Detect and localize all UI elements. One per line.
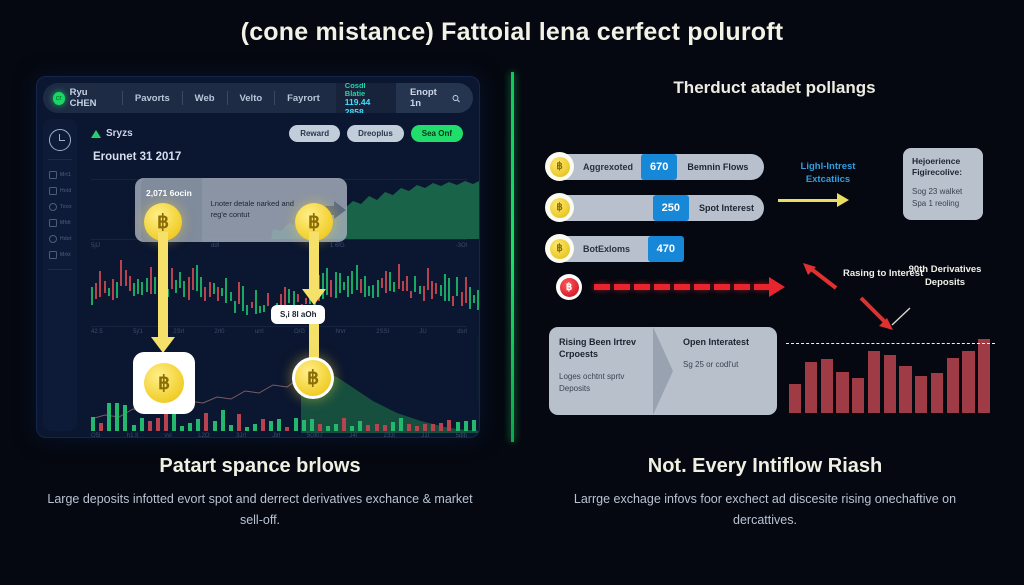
card-body: Sog 23 walket Spa 1 reoling (912, 186, 974, 210)
candle (402, 281, 404, 291)
candle (209, 282, 211, 297)
candle (389, 272, 391, 291)
date-label: Erounet 31 2017 (81, 142, 473, 163)
volume-bar (196, 419, 200, 431)
header-buttons: Reward Dreoplus Sea Onf (289, 125, 463, 142)
volume-bar (407, 424, 411, 431)
volume-bar (342, 418, 346, 431)
axis-tick: 2SSl (376, 329, 389, 335)
candle (288, 289, 290, 302)
volume-bar (447, 420, 451, 431)
caption-left-body: Large deposits infotted evort spot and d… (40, 489, 480, 530)
candle (204, 287, 206, 300)
candle (267, 293, 269, 306)
volume-bar (415, 426, 419, 431)
candle (238, 282, 240, 304)
volume-bar (294, 418, 298, 431)
split-info-card: Rising Been Irtrev Crpoests Loges ochtnt… (549, 327, 777, 415)
volume-bar (277, 419, 281, 431)
candle (339, 273, 341, 293)
candle (435, 283, 437, 294)
volume-bar (229, 425, 233, 431)
volume-bar (213, 421, 217, 431)
chevron-right-icon (653, 327, 673, 415)
sidebar-item-label: Hold (60, 188, 71, 194)
candle (368, 286, 370, 296)
candle (91, 287, 93, 305)
bar (789, 384, 801, 413)
axis-tick: O/G (294, 329, 305, 335)
marker-tooltip: S,i 8l aOh (271, 305, 325, 324)
axis-tick: 5j/1 (133, 329, 143, 335)
bar (805, 362, 817, 413)
volume-bar (431, 424, 435, 431)
caption-left-heading: Patart spance brlows (40, 455, 480, 478)
sidebar-item-5[interactable]: Mrkt (43, 247, 77, 263)
volume-bar (132, 425, 136, 431)
candle (125, 270, 127, 286)
candle (444, 274, 446, 301)
flow-row-2[interactable]: ฿ BotExloms 470 (549, 236, 684, 262)
caption-right-heading: Not. Every Intiflow Riash (545, 455, 985, 478)
candle (179, 272, 181, 288)
sidebar-item-label: Mrt1 (60, 172, 71, 178)
candle (330, 280, 332, 297)
candle (440, 285, 442, 296)
flow-row-0[interactable]: ฿ Aggrexoted 670 Bemnin Flows (549, 154, 764, 180)
volume-bar (350, 426, 354, 431)
candle (129, 276, 131, 291)
axis-tick: hrvr (335, 329, 345, 335)
candle (414, 276, 416, 292)
caption-left: Patart spance brlows Large deposits info… (40, 455, 480, 530)
axis-tick: 1 6fG (330, 243, 345, 249)
volume-bar (383, 425, 387, 431)
sidebar-item-3[interactable]: Mfdt (43, 215, 77, 231)
candle (196, 265, 198, 291)
volume-bar (391, 422, 395, 431)
volume-bar (456, 422, 460, 431)
axis-tick: 2rl0 (214, 329, 224, 335)
candle (251, 302, 253, 308)
candle (183, 281, 185, 297)
infographic-canvas: (cone mistance) Fattoial lena cerfect po… (0, 0, 1024, 585)
bitcoin-card: ฿ (133, 352, 195, 414)
threshold-line (786, 343, 995, 344)
bitcoin-icon: ฿ (545, 234, 574, 263)
axis-tick: 5jlJ (91, 243, 100, 249)
divider (48, 159, 72, 160)
volume-bar (302, 420, 306, 431)
price-value: 119.44 2858 (345, 98, 387, 113)
arrow-right-icon (778, 199, 838, 202)
candle (385, 271, 387, 293)
volume-bar (439, 423, 443, 431)
split-left-heading: Rising Been Irtrev Crpoests (559, 336, 643, 360)
candle (154, 277, 156, 293)
candle (120, 260, 122, 287)
candle (112, 279, 114, 300)
volume-bar (326, 426, 330, 431)
candle (137, 279, 139, 295)
bar (899, 366, 911, 413)
dashed-arrow-right-icon (594, 284, 770, 290)
page-title: (cone mistance) Fattoial lena cerfect po… (0, 18, 1024, 47)
volume-bar (107, 403, 111, 431)
nav-item-0[interactable]: Pavorts (123, 93, 182, 104)
dreoplus-button[interactable]: Dreoplus (347, 125, 404, 142)
volume-bar (156, 418, 160, 431)
axis-tick: Jtrl (272, 433, 280, 438)
volume-bar (237, 414, 241, 431)
candle (225, 278, 227, 303)
candle (246, 305, 248, 315)
flow-value: 670 (641, 154, 677, 180)
flow-row-1[interactable]: ฿ 250 Spot Interest (549, 195, 764, 221)
volume-bar (318, 424, 322, 431)
bar (836, 372, 848, 413)
reward-button[interactable]: Reward (289, 125, 340, 142)
volume-bar (423, 424, 427, 431)
center-divider (511, 72, 514, 442)
volume-bar (269, 421, 273, 431)
axis-tick: urrl (255, 329, 264, 335)
bar (868, 351, 880, 413)
bar (947, 358, 959, 413)
candle (343, 282, 345, 290)
axis-mid: 42.5 5j/1 2Srl 2rl0 urrl O/G hrvr 2SSl J… (91, 329, 467, 335)
dashboard-navbar: cr Ryu CHEN Pavorts Web Velto Fayrort Co… (43, 83, 473, 113)
volume-bar (221, 410, 225, 431)
candle (259, 306, 261, 313)
volume-bar (204, 413, 208, 431)
gridline (91, 326, 467, 327)
derivatives-bar-chart (788, 335, 993, 413)
candle (372, 285, 374, 298)
candle (263, 305, 265, 312)
candle (200, 277, 202, 297)
flow-label: Aggrexoted (575, 162, 641, 172)
candle (175, 280, 177, 293)
volume-bar (188, 423, 192, 431)
split-card-right: Open Interatest Sg 25 or codl'ut (673, 327, 777, 415)
candle (356, 265, 358, 290)
volume-bar (366, 425, 370, 431)
card-heading: Hejoerience Figirecolive: (912, 156, 974, 179)
axis-tick: 42.5 (91, 329, 103, 335)
candle (423, 286, 425, 301)
sidebar-item-label: Mfdt (60, 220, 71, 226)
candle (99, 271, 101, 296)
volume-bar (358, 421, 362, 431)
volume-bar (310, 419, 314, 431)
axis-top: 5jlJ ddl 1 6fG -3Ol (91, 243, 467, 249)
tooltip-value: 2,071 6ocin (146, 188, 192, 198)
candle (335, 272, 337, 298)
candle (456, 277, 458, 296)
candle (242, 286, 244, 311)
sidebar-item-4[interactable]: Hdet (43, 231, 77, 247)
arrow-down-icon (309, 232, 319, 290)
flow-label-secondary: Spot Interest (689, 203, 764, 213)
axis-tick: h1 ll (127, 433, 138, 438)
candle (381, 278, 383, 288)
split-right-body: Sg 25 or codl'ut (683, 359, 767, 371)
flow-value: 250 (653, 195, 689, 221)
volume-bar (115, 403, 119, 431)
content-header: Sryzs Reward Dreoplus Sea Onf (81, 119, 473, 142)
axis-tick: J1l (421, 433, 429, 438)
symbol-label: Sryzs (106, 128, 133, 139)
candle (427, 268, 429, 290)
candle (469, 287, 471, 309)
book-icon (49, 187, 57, 195)
candle (448, 278, 450, 302)
candle (326, 268, 328, 295)
info-icon (49, 203, 57, 211)
candle (217, 287, 219, 301)
pie-icon (49, 235, 57, 243)
sidebar-item-label: Toox (60, 204, 72, 210)
axis-bottom: Q5l h1 ll vvl L2O 3Jrl Jtrl 5Gl07 J4l 23… (91, 433, 467, 438)
divider (48, 269, 72, 270)
axis-tick: ddl (211, 243, 219, 249)
axis-tick: dsrl (457, 329, 467, 335)
candle (230, 292, 232, 301)
flow-value: 470 (648, 236, 684, 262)
candle (377, 280, 379, 297)
candle (234, 301, 236, 313)
circle-dot-icon: cr (53, 92, 65, 105)
right-panel-title: Therduct atadet pollangs (545, 78, 1004, 98)
bar (978, 339, 990, 413)
search-icon (452, 94, 460, 103)
arrow-up-left-icon (800, 262, 840, 292)
candle (419, 286, 421, 294)
axis-tick: vvl (164, 433, 171, 438)
caption-right: Not. Every Intiflow Riash Larrge exchage… (545, 455, 985, 530)
login-button[interactable]: Enopt 1n (396, 83, 473, 113)
nav-item-2[interactable]: Velto (227, 93, 274, 104)
bar (915, 376, 927, 413)
bar (931, 373, 943, 413)
candle (141, 282, 143, 295)
price-ticker[interactable]: Cosdl Blatie 119.44 2858 (336, 83, 396, 113)
experience-card: Hejoerience Figirecolive: Sog 23 walket … (903, 148, 983, 220)
volume-bar (180, 426, 184, 431)
candle (213, 283, 215, 295)
split-left-body: Loges ochtnt sprtv Deposits (559, 371, 643, 395)
flow-label: BotExloms (575, 244, 638, 254)
candle (171, 268, 173, 289)
axis-tick: 5Gl07 (307, 433, 323, 438)
axis-tick: 233l (384, 433, 395, 438)
annotation-derivatives-deposits: 90th Derivatives Deposits (905, 264, 985, 290)
sidebar-item-1[interactable]: Hold (43, 183, 77, 199)
volume-bar (261, 419, 265, 431)
sea-onf-button[interactable]: Sea Onf (411, 125, 463, 142)
candle (108, 288, 110, 296)
candle (473, 295, 475, 304)
sidebar-item-label: Mrkt (60, 252, 71, 258)
brand-label: Ryu CHEN (70, 87, 112, 109)
flow-label-secondary: Bemnin Flows (677, 162, 758, 172)
axis-tick: 2Srl (173, 329, 184, 335)
volume-bar (253, 424, 257, 431)
volume-bar (334, 424, 338, 431)
candle (104, 281, 106, 293)
volume-bar (172, 411, 176, 431)
candle (95, 283, 97, 299)
candle (360, 279, 362, 293)
volume-bar (399, 418, 403, 431)
blue-annotation-text: Lighl-Intrest Extcatiics (801, 161, 856, 185)
candle (255, 290, 257, 315)
candle (347, 276, 349, 296)
split-right-heading: Open Interatest (683, 336, 767, 348)
volume-bar (123, 405, 127, 431)
brand[interactable]: cr Ryu CHEN (43, 87, 122, 109)
candle (188, 277, 190, 299)
folder-icon (49, 251, 57, 259)
candle (461, 292, 463, 306)
candle (431, 281, 433, 299)
axis-tick: 3Jrl (236, 433, 246, 438)
axis-tick: JU (419, 329, 426, 335)
volume-bar (245, 427, 249, 431)
bar (852, 378, 864, 413)
candle (297, 294, 299, 302)
volume-bar (99, 423, 103, 431)
bitcoin-icon: ฿ (144, 363, 184, 403)
candle (133, 283, 135, 295)
candle (398, 264, 400, 290)
bitcoin-icon: ฿ (545, 152, 574, 181)
price-label: Cosdl Blatie (345, 83, 387, 98)
candle (351, 271, 353, 294)
triangle-up-icon (91, 130, 101, 138)
caption-right-body: Larrge exchage infovs foor exchect ad di… (545, 489, 985, 530)
sidebar-item-0[interactable]: Mrt1 (43, 167, 77, 183)
axis-tick: L2O (198, 433, 209, 438)
candle (452, 296, 454, 307)
volume-bar (148, 421, 152, 431)
axis-tick: Q5l (91, 433, 100, 438)
grid-icon (49, 219, 57, 227)
volume-bar (91, 417, 95, 431)
nav-item-3[interactable]: Fayrort (275, 93, 332, 104)
nav-item-1[interactable]: Web (183, 93, 227, 104)
bar (821, 359, 833, 413)
axis-tick: J4l (349, 433, 357, 438)
candle (221, 288, 223, 296)
volume-bar (464, 421, 468, 431)
volume-bar (285, 427, 289, 431)
bitcoin-red-icon: ฿ (556, 274, 582, 300)
candle (150, 267, 152, 293)
arrow-down-icon (158, 232, 168, 338)
bar (884, 355, 896, 414)
split-card-left: Rising Been Irtrev Crpoests Loges ochtnt… (549, 327, 653, 415)
sidebar-item-label: Hdet (60, 236, 72, 242)
candle (116, 282, 118, 299)
candle (393, 282, 395, 292)
candle (146, 278, 148, 292)
candle (192, 268, 194, 291)
candle (364, 276, 366, 296)
pointer-line-icon (890, 305, 916, 327)
bitcoin-icon: ฿ (545, 193, 574, 222)
dashboard-sidebar: Mrt1 Hold Toox Mfdt Hdet Mrkt (43, 119, 77, 431)
clock-icon (49, 129, 71, 151)
candle (465, 277, 467, 303)
candle (477, 290, 479, 309)
candle (406, 276, 408, 291)
candle (410, 291, 412, 298)
dashboard-mock: cr Ryu CHEN Pavorts Web Velto Fayrort Co… (36, 76, 480, 438)
list-icon (49, 171, 57, 179)
volume-bar (375, 424, 379, 431)
volume-bar (140, 418, 144, 431)
axis-tick: -3Ol (456, 243, 467, 249)
blue-annotation: Lighl-Intrest Extcatiics (782, 160, 874, 187)
bitcoin-icon: ฿ (292, 357, 334, 399)
sidebar-item-2[interactable]: Toox (43, 199, 77, 215)
bar (962, 351, 974, 413)
axis-tick: 5dlb (456, 433, 467, 438)
login-label: Enopt 1n (410, 87, 446, 109)
volume-bar (472, 420, 476, 431)
